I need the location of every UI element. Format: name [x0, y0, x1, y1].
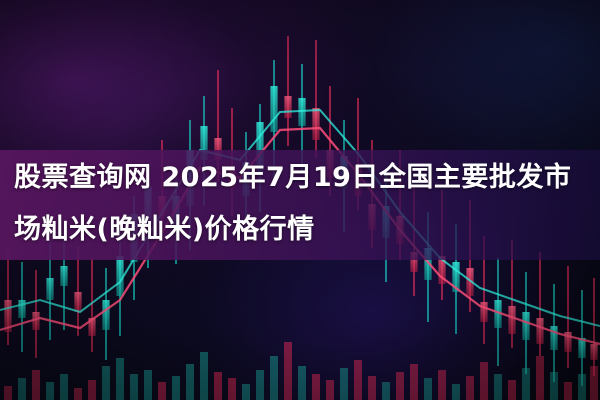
volume-series: [4, 342, 598, 400]
promo-image: 股票查询网 2025年7月19日全国主要批发市场籼米(晚籼米)价格行情: [0, 0, 600, 400]
headline-title: 股票查询网 2025年7月19日全国主要批发市场籼米(晚籼米)价格行情: [0, 152, 600, 256]
